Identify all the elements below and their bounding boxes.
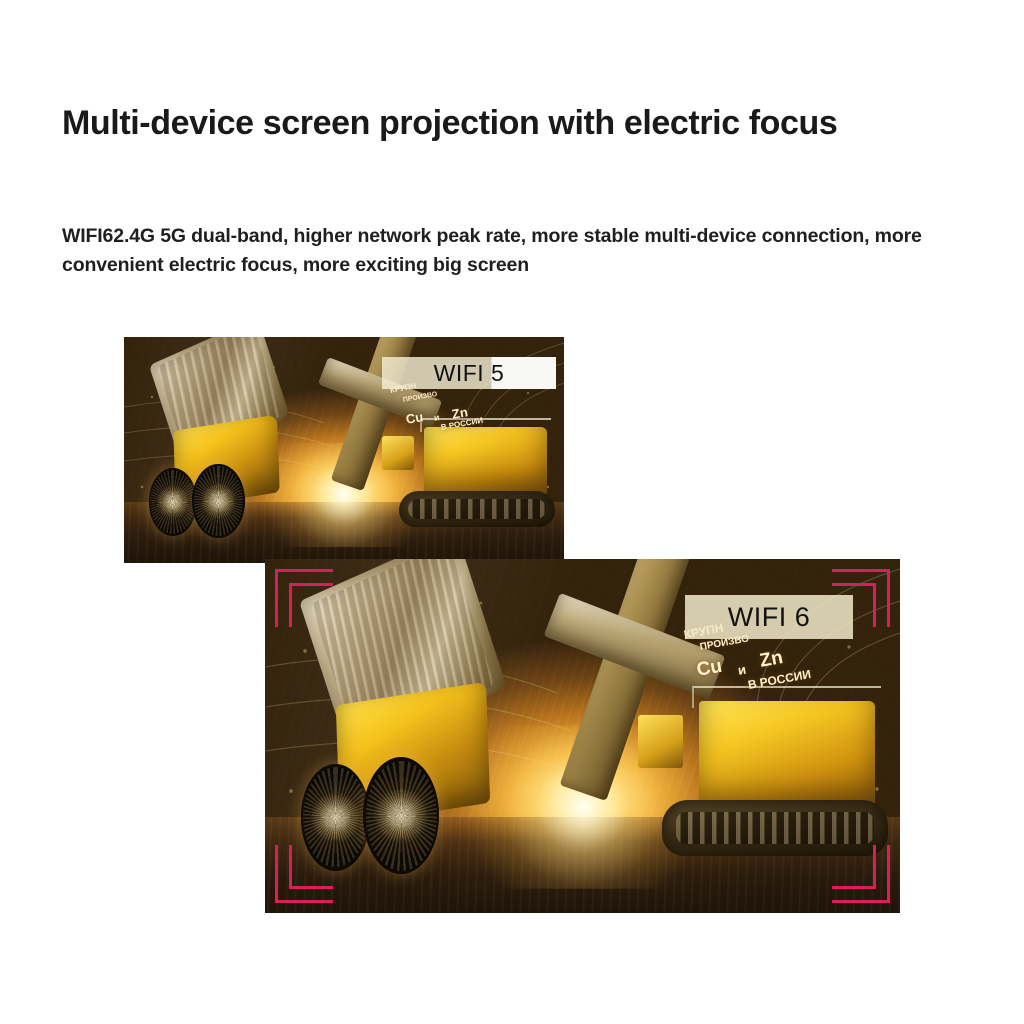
wifi6-badge-label: WIFI 6: [728, 602, 811, 633]
excavator-house: [699, 701, 876, 807]
wifi6-badge: WIFI 6: [685, 595, 853, 639]
truck-wheel-front: [363, 757, 439, 874]
wifi5-comparison-image: КРУПН ПРОИЗВО Cu и Zn В РОССИИ WIFI 5: [124, 337, 564, 563]
truck-wheel-rear: [301, 764, 370, 870]
wifi5-badge-label: WIFI 5: [434, 360, 505, 387]
wifi6-comparison-image: КРУПН ПРОИЗВО Cu и Zn В РОССИИ: [265, 559, 900, 913]
page-root: Multi-device screen projection with elec…: [0, 0, 1024, 1024]
truck-wheel-rear: [149, 468, 197, 536]
page-subtitle: WIFI62.4G 5G dual-band, higher network p…: [62, 222, 967, 280]
wifi5-badge: WIFI 5: [382, 357, 556, 389]
excavator-cab: [638, 715, 684, 768]
page-title: Multi-device screen projection with elec…: [62, 101, 912, 146]
excavator-track: [662, 800, 888, 857]
excavator-house: [424, 427, 546, 495]
excavator-track: [399, 491, 555, 527]
truck-wheel-front: [192, 464, 245, 539]
excavator-cab: [382, 436, 414, 470]
